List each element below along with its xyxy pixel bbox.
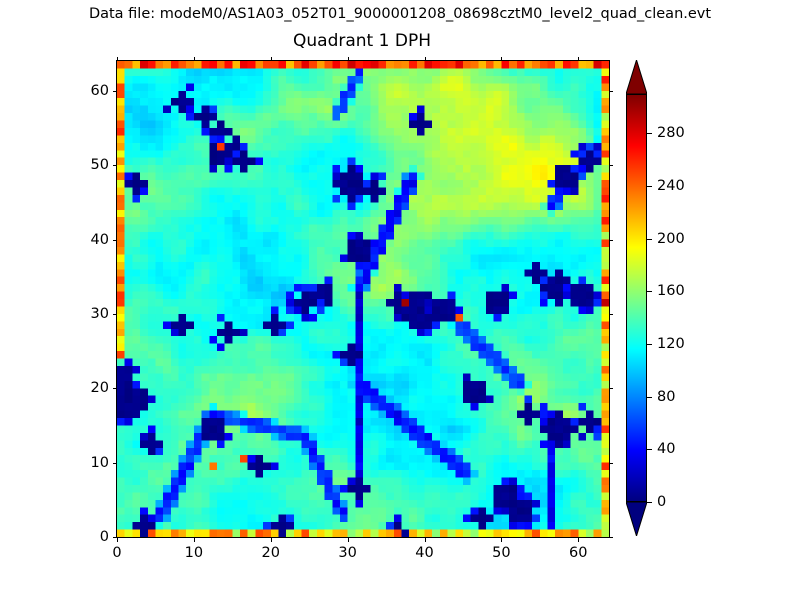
colorbar-extend-top-icon: [626, 60, 647, 94]
data-file-title: Data file: modeM0/AS1A03_052T01_90000012…: [0, 6, 800, 22]
x-tick: [117, 538, 118, 542]
colorbar-tick-label: 80: [657, 389, 675, 405]
y-tick-right: [609, 314, 613, 315]
x-tick: [271, 538, 272, 542]
colorbar-tick-label: 280: [657, 125, 685, 141]
x-tick: [578, 538, 579, 542]
x-tick-top: [271, 57, 272, 61]
x-tick-top: [425, 57, 426, 61]
plot-title: Quadrant 1 DPH: [116, 31, 608, 51]
x-tick-label: 60: [569, 545, 587, 561]
x-tick-label: 20: [262, 545, 280, 561]
y-tick-label: 10: [91, 455, 117, 471]
y-tick-label: 30: [91, 306, 117, 322]
y-tick-label: 50: [91, 157, 117, 173]
colorbar-tick-label: 120: [657, 336, 685, 352]
colorbar-tick: [647, 133, 652, 134]
x-tick-top: [117, 57, 118, 61]
y-tick-label: 20: [91, 380, 117, 396]
colorbar-tick: [647, 344, 652, 345]
y-tick-label: 60: [91, 83, 117, 99]
y-tick-label: 40: [91, 232, 117, 248]
x-tick-top: [348, 57, 349, 61]
figure-canvas: Data file: modeM0/AS1A03_052T01_90000012…: [0, 0, 800, 600]
x-tick-top: [194, 57, 195, 61]
x-tick: [348, 538, 349, 542]
y-tick-right: [609, 463, 613, 464]
x-tick-label: 40: [415, 545, 433, 561]
y-tick-right: [609, 91, 613, 92]
x-tick-label: 30: [338, 545, 356, 561]
colorbar-tick: [647, 186, 652, 187]
colorbar-tick-label: 240: [657, 178, 685, 194]
x-tick-label: 50: [492, 545, 510, 561]
x-tick: [194, 538, 195, 542]
heatmap-axes[interactable]: 0102030405060 0102030405060: [116, 60, 610, 538]
x-tick: [425, 538, 426, 542]
heatmap-image[interactable]: [117, 61, 609, 537]
y-tick-right: [609, 537, 613, 538]
x-tick-top: [501, 57, 502, 61]
colorbar-tick-label: 40: [657, 441, 675, 457]
y-tick-right: [609, 240, 613, 241]
y-tick-label: 0: [100, 529, 117, 545]
colorbar-tick: [647, 291, 652, 292]
colorbar-tick: [647, 449, 652, 450]
y-tick-right: [609, 388, 613, 389]
x-tick: [501, 538, 502, 542]
x-tick-top: [578, 57, 579, 61]
x-tick-label: 0: [112, 545, 121, 561]
y-tick-right: [609, 165, 613, 166]
colorbar-tick: [647, 397, 652, 398]
colorbar-tick: [647, 239, 652, 240]
colorbar-tick: [647, 502, 652, 503]
colorbar-tick-label: 160: [657, 283, 685, 299]
colorbar-tick-label: 200: [657, 231, 685, 247]
colorbar-tick-label: 0: [657, 494, 666, 510]
colorbar-extend-bottom-icon: [626, 502, 647, 536]
x-tick-label: 10: [185, 545, 203, 561]
colorbar-gradient: [626, 94, 647, 502]
colorbar[interactable]: 04080120160200240280: [626, 60, 746, 536]
